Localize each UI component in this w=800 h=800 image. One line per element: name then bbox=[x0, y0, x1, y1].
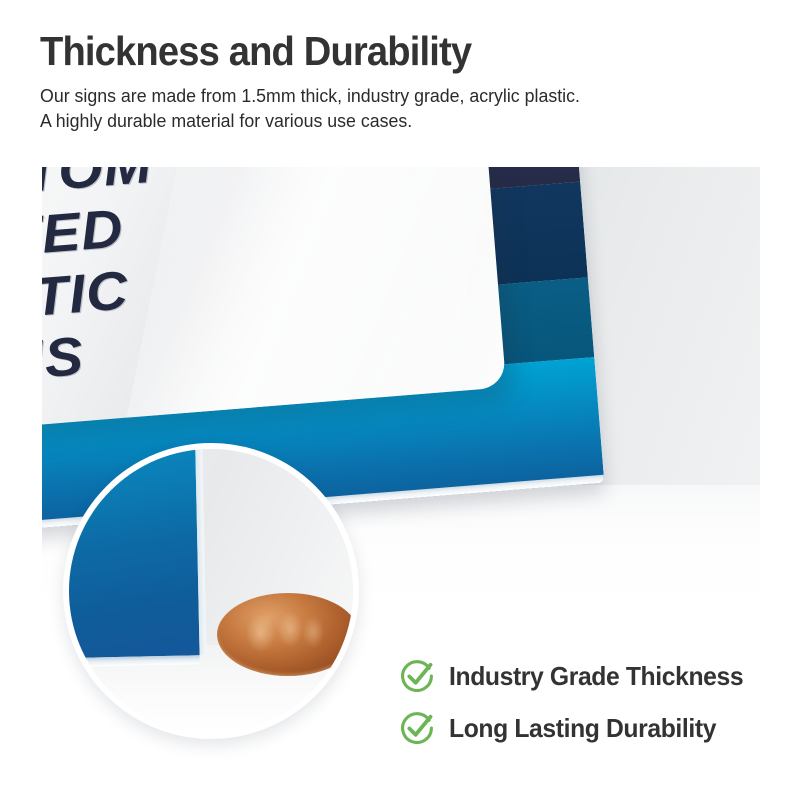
feature-item-industry-grade-thickness: Industry Grade Thickness bbox=[399, 650, 779, 702]
magnified-penny-face bbox=[217, 593, 359, 676]
page-subtitle: Our signs are made from 1.5mm thick, ind… bbox=[40, 83, 741, 133]
feature-item-long-lasting-durability: Long Lasting Durability bbox=[399, 702, 779, 754]
subtitle-line-2: A highly durable material for various us… bbox=[40, 108, 741, 133]
subtitle-line-1: Our signs are made from 1.5mm thick, ind… bbox=[40, 83, 741, 108]
magnified-penny-relief-detail bbox=[231, 601, 345, 667]
check-circle-icon bbox=[399, 710, 435, 746]
magnifier-callout-circle bbox=[63, 443, 359, 739]
magnified-penny bbox=[217, 593, 359, 676]
page-title: Thickness and Durability bbox=[40, 28, 719, 74]
white-printed-sign: USTOM INTED ASTIC GNS bbox=[42, 167, 506, 432]
header-block: Thickness and Durability Our signs are m… bbox=[40, 28, 770, 133]
magnified-acrylic-panel bbox=[63, 443, 200, 659]
check-circle-icon bbox=[399, 658, 435, 694]
feature-label: Industry Grade Thickness bbox=[449, 661, 743, 692]
feature-list: Industry Grade Thickness Long Lasting Du… bbox=[399, 650, 779, 754]
feature-label: Long Lasting Durability bbox=[449, 713, 716, 744]
